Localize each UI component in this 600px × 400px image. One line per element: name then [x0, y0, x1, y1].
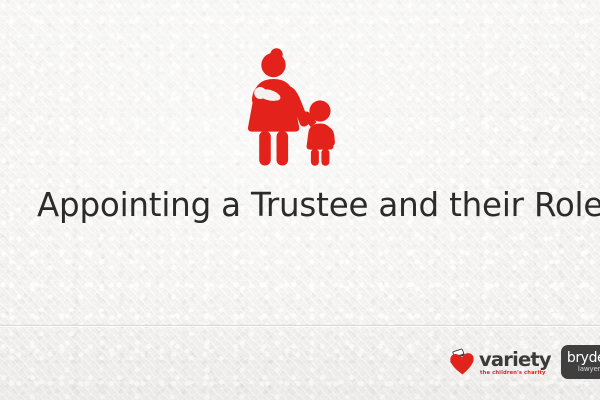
slide-title: Appointing a Trustee and their Role: [37, 186, 577, 224]
variety-wordmark: variety: [479, 350, 551, 370]
slide-canvas: Appointing a Trustee and their Role vari…: [0, 0, 600, 400]
mother-with-baby-and-child-icon: [246, 48, 342, 166]
bryden-lawyers-logo[interactable]: bryden lawyers: [561, 345, 600, 379]
bryden-wordmark: bryden: [567, 351, 600, 365]
heart-with-top-hat-icon: [448, 348, 478, 376]
bryden-tagline: lawyers: [578, 366, 600, 373]
variety-logo[interactable]: variety the children's charity: [448, 345, 551, 379]
variety-text-block: variety the children's charity: [479, 348, 551, 376]
variety-tagline: the children's charity: [480, 371, 546, 376]
footer-divider: [0, 325, 600, 326]
footer-logo-group: variety the children's charity bryden la…: [448, 340, 600, 384]
